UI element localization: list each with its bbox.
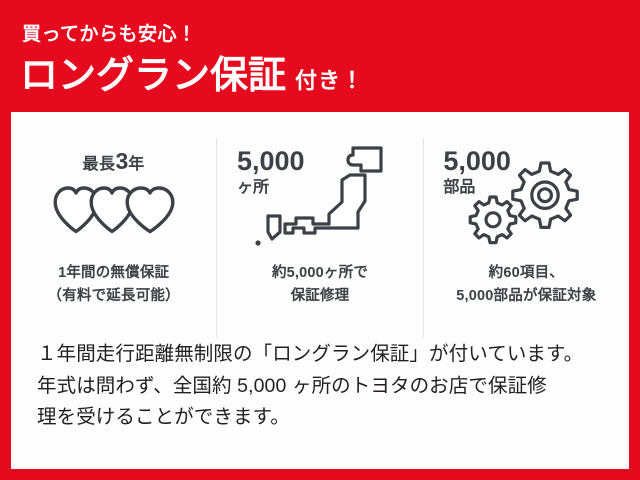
feature-column-service-locations: 5,000 ヶ所 約5,000ヶ所で 保証修理: [216, 138, 422, 338]
feature-column-warranty-period: 最長3年 1年間の無償保証 （有料で延長: [11, 138, 216, 338]
content-panel: 最長3年 1年間の無償保証 （有料で延長: [11, 112, 629, 469]
feature-visual-gears: 5,000 部品: [431, 138, 621, 256]
map-heading-unit: ヶ所: [237, 180, 305, 196]
caption-line-1: 1年間の無償保証: [48, 262, 180, 285]
hearts-heading-number: 3: [116, 148, 129, 174]
feature-caption-warranty-period: 1年間の無償保証 （有料で延長可能）: [48, 262, 180, 309]
map-heading-number: 5,000: [237, 148, 305, 175]
feature-caption-covered-parts: 約60項目、 5,000部品が保証対象: [456, 262, 596, 309]
three-hearts-icon: [52, 176, 176, 241]
caption-line-2: 保証修理: [272, 285, 368, 308]
description-paragraph: １年間走行距離無制限の「ロングラン保証」が付いています。 年式は問わず、全国約 …: [37, 339, 609, 434]
feature-visual-map: 5,000 ヶ所: [225, 138, 415, 256]
feature-visual-hearts: 最長3年: [19, 138, 209, 256]
header-title-suffix: 付き！: [295, 70, 364, 92]
caption-line-2: 5,000部品が保証対象: [456, 285, 596, 308]
longrun-warranty-banner: 買ってからも安心！ ロングラン保証 付き！ 最長3年: [0, 0, 640, 480]
feature-columns: 最長3年 1年間の無償保証 （有料で延長: [11, 138, 629, 338]
description-line-1: １年間走行距離無制限の「ロングラン保証」が付いています。: [37, 339, 609, 371]
map-heading: 5,000 ヶ所: [237, 148, 305, 196]
description-line-2: 年式は問わず、全国約 5,000 ヶ所のトヨタのお店で保証修: [37, 371, 609, 403]
gears-heading-number: 5,000: [443, 148, 511, 175]
hearts-heading-prefix: 最長: [82, 156, 115, 173]
caption-line-2: （有料で延長可能）: [48, 285, 180, 308]
gears-heading-unit: 部品: [443, 180, 511, 196]
caption-line-1: 約5,000ヶ所で: [272, 262, 368, 285]
banner-header: 買ってからも安心！ ロングラン保証 付き！: [0, 0, 640, 112]
hearts-heading-suffix: 年: [128, 156, 145, 173]
header-title: ロングラン保証 付き！: [20, 57, 364, 95]
header-title-strong: ロングラン保証: [20, 57, 286, 95]
description-line-3: 理を受けることができます。: [37, 402, 609, 434]
hearts-heading: 最長3年: [19, 150, 209, 173]
gears-heading: 5,000 部品: [443, 148, 511, 196]
header-kicker-text: 買ってからも安心！: [22, 25, 197, 44]
feature-caption-service-locations: 約5,000ヶ所で 保証修理: [272, 262, 368, 309]
feature-column-covered-parts: 5,000 部品 約60項目、 5,000部品が保証対象: [423, 138, 629, 338]
caption-line-1: 約60項目、: [456, 262, 596, 285]
